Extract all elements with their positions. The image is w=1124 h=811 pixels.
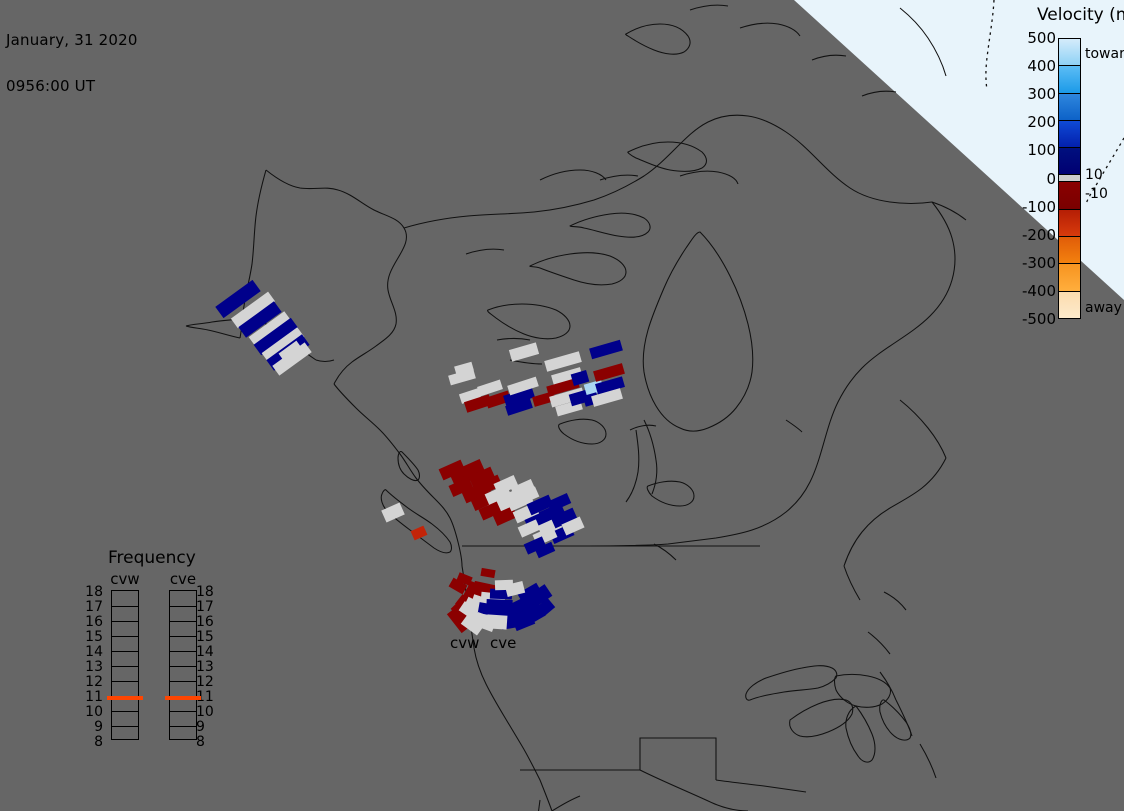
- frequency-scale-value: 13: [85, 660, 103, 674]
- colorbar-away-label: away: [1085, 300, 1122, 316]
- colorbar-title: Velocity (m/s): [1037, 5, 1124, 25]
- colorbar-inner-pos-label: 10: [1085, 167, 1103, 183]
- colorbar-tick-label: -400: [1022, 282, 1056, 300]
- colorbar-segment: [1059, 210, 1080, 237]
- frequency-gridline: [112, 606, 138, 607]
- frequency-gridline: [170, 636, 196, 637]
- frequency-scale-value: 15: [85, 630, 103, 644]
- frequency-bar-cve: [169, 590, 197, 740]
- colorbar-toward-label: toward: [1085, 46, 1124, 62]
- colorbar-segment: [1059, 66, 1080, 93]
- radar-map-canvas: January, 31 2020 0956:00 UT cvwcve Veloc…: [0, 0, 1124, 811]
- colorbar-tick-label: 500: [1027, 29, 1056, 47]
- frequency-gridline: [170, 711, 196, 712]
- frequency-scale-value: 9: [94, 720, 103, 734]
- colorbar-tick-label: -500: [1022, 310, 1056, 328]
- colorbar-segment: [1059, 175, 1080, 182]
- colorbar-tick-label: 300: [1027, 85, 1056, 103]
- colorbar-tick-label: 0: [1046, 170, 1056, 188]
- timestamp-time: 0956:00 UT: [6, 78, 138, 94]
- colorbar-tick-label: 400: [1027, 57, 1056, 75]
- frequency-gridline: [112, 711, 138, 712]
- colorbar-tick-label: 200: [1027, 113, 1056, 131]
- colorbar-segment: [1059, 182, 1080, 209]
- frequency-scale-value: 18: [85, 585, 103, 599]
- frequency-gridline: [112, 621, 138, 622]
- velocity-colorbar: Velocity (m/s) 5004003002001000-100-200-…: [1012, 4, 1124, 334]
- frequency-gridline: [112, 681, 138, 682]
- colorbar-segment: [1059, 264, 1080, 291]
- frequency-scale-value: 10: [85, 705, 103, 719]
- frequency-column-cve-label: cve: [164, 570, 202, 588]
- frequency-gridline: [112, 666, 138, 667]
- frequency-scale-value: 8: [94, 735, 103, 749]
- colorbar-tick-label: -300: [1022, 254, 1056, 272]
- frequency-title: Frequency: [108, 548, 196, 568]
- frequency-gridline: [170, 606, 196, 607]
- frequency-marker: [165, 696, 201, 700]
- frequency-gridline: [112, 726, 138, 727]
- colorbar-segment: [1059, 148, 1080, 175]
- frequency-column-cvw: cvw: [106, 570, 144, 740]
- colorbar-tick-label: -200: [1022, 226, 1056, 244]
- frequency-column-cve: cve: [164, 570, 202, 740]
- frequency-scale-value: 11: [85, 690, 103, 704]
- colorbar-gradient: [1058, 38, 1081, 319]
- frequency-scale-value: 16: [85, 615, 103, 629]
- timestamp: January, 31 2020 0956:00 UT: [6, 2, 138, 124]
- frequency-column-cvw-label: cvw: [106, 570, 144, 588]
- colorbar-tick-label: 100: [1027, 141, 1056, 159]
- frequency-bar-cvw: [111, 590, 139, 740]
- colorbar-segment: [1059, 237, 1080, 264]
- timestamp-date: January, 31 2020: [6, 32, 138, 48]
- frequency-gridline: [170, 681, 196, 682]
- frequency-marker: [107, 696, 143, 700]
- radar-label-cve: cve: [490, 634, 516, 652]
- frequency-gridline: [170, 621, 196, 622]
- frequency-gridline: [170, 726, 196, 727]
- frequency-scale-value: 12: [85, 675, 103, 689]
- colorbar-segment: [1059, 94, 1080, 121]
- colorbar-segment: [1059, 39, 1080, 66]
- frequency-legend: Frequency 18171615141312111098 181716151…: [84, 548, 234, 788]
- frequency-scale-value: 17: [85, 600, 103, 614]
- frequency-scale-value: 14: [85, 645, 103, 659]
- frequency-gridline: [112, 636, 138, 637]
- colorbar-inner-neg-label: -10: [1085, 186, 1108, 202]
- frequency-gridline: [170, 651, 196, 652]
- colorbar-segment: [1059, 121, 1080, 148]
- colorbar-tick-label: -100: [1022, 198, 1056, 216]
- radar-label-cvw: cvw: [450, 634, 479, 652]
- frequency-gridline: [112, 651, 138, 652]
- frequency-gridline: [170, 666, 196, 667]
- colorbar-segment: [1059, 292, 1080, 318]
